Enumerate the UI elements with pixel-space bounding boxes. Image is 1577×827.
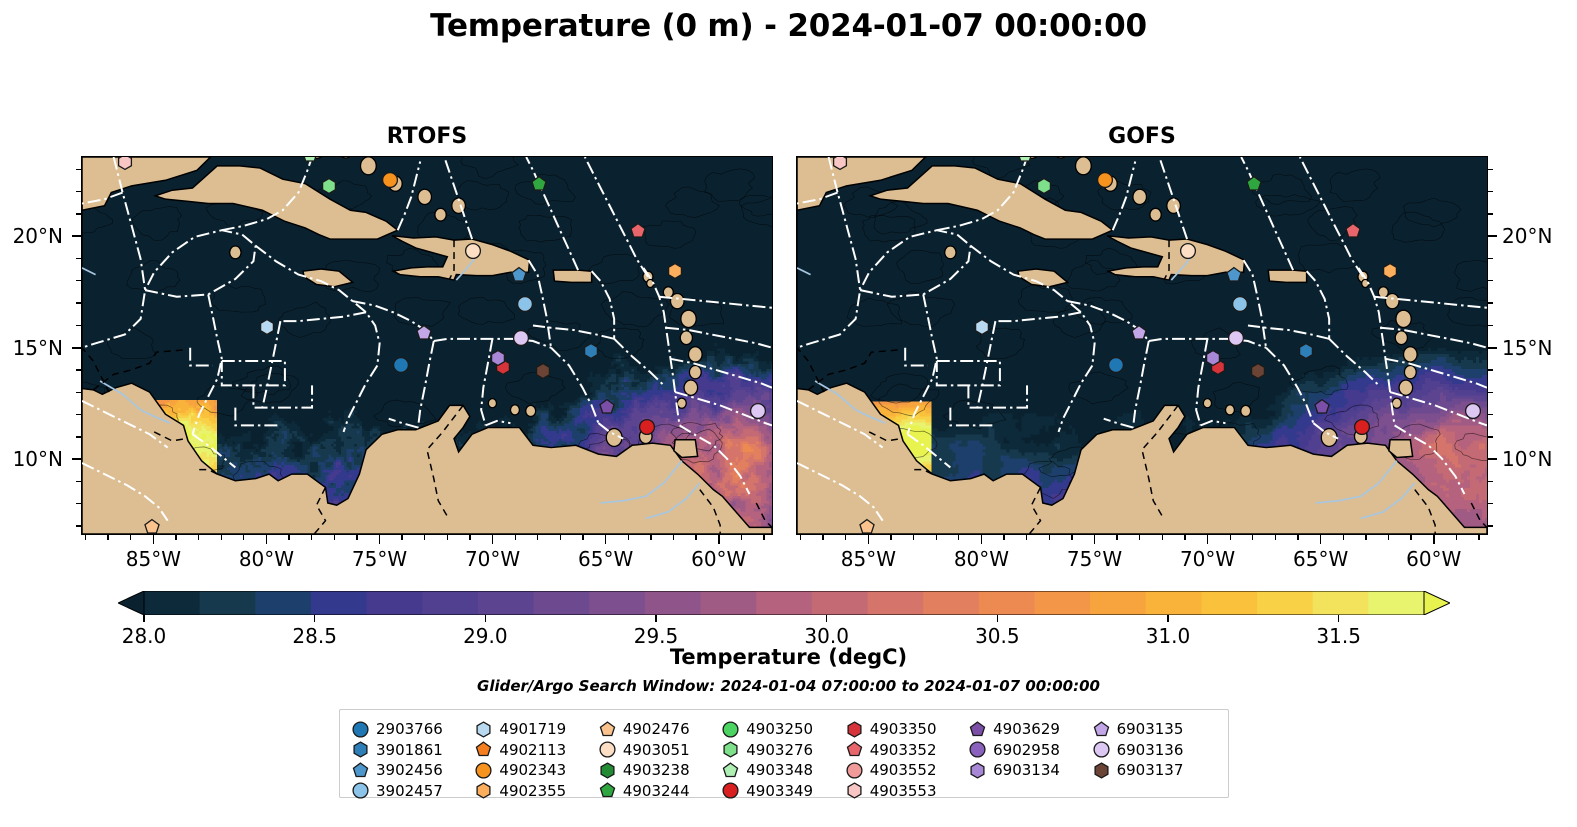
panel-title-gofs: GOFS bbox=[796, 124, 1488, 149]
legend-marker-icon bbox=[599, 741, 616, 758]
x-minor-tick bbox=[913, 535, 914, 540]
x-tick-gofs-4 bbox=[1320, 535, 1322, 544]
legend-marker-icon bbox=[1093, 721, 1110, 738]
legend-item-4902355[interactable]: 4902355 bbox=[475, 781, 598, 802]
y-minor-tick bbox=[1488, 414, 1493, 415]
legend-marker-icon bbox=[599, 721, 616, 738]
x-minor-tick bbox=[1162, 535, 1163, 540]
y-tick-gofs-1 bbox=[1488, 347, 1497, 349]
x-minor-tick bbox=[424, 535, 425, 540]
legend-item-6902958[interactable]: 6902958 bbox=[969, 740, 1092, 761]
x-tick-gofs-3 bbox=[1207, 535, 1209, 544]
platform-marker-3901861[interactable] bbox=[582, 343, 599, 364]
x-tick-label-rtofs-0: 85°W bbox=[126, 547, 181, 571]
y-minor-tick bbox=[76, 325, 81, 326]
map-panel-gofs: GOFS bbox=[796, 156, 1488, 535]
y-tick-label-rtofs-2: 20°N bbox=[0, 224, 63, 248]
platform-marker-3902457[interactable] bbox=[1232, 296, 1249, 317]
platform-marker-3901861[interactable] bbox=[1297, 343, 1314, 364]
platform-marker-4901719[interactable] bbox=[974, 318, 991, 339]
legend-item-4902343[interactable]: 4902343 bbox=[475, 760, 598, 781]
legend-item-2903766[interactable]: 2903766 bbox=[352, 719, 475, 740]
y-minor-tick bbox=[1488, 525, 1493, 526]
x-tick-label-rtofs-5: 60°W bbox=[691, 547, 746, 571]
y-tick-gofs-2 bbox=[1488, 235, 1497, 237]
legend-item-4903051[interactable]: 4903051 bbox=[599, 740, 722, 761]
legend-item-4903238[interactable]: 4903238 bbox=[599, 760, 722, 781]
legend-marker-icon bbox=[722, 782, 739, 799]
colorbar-tick-3 bbox=[655, 615, 657, 622]
x-minor-tick bbox=[1071, 535, 1072, 540]
legend-marker-icon bbox=[722, 721, 739, 738]
platform-legend: 2903766 3901861 3902456 3902457 4901719 … bbox=[339, 709, 1229, 798]
colorbar-tick-6 bbox=[1167, 615, 1169, 622]
x-minor-tick bbox=[560, 535, 561, 540]
legend-marker-icon bbox=[352, 741, 369, 758]
platform-marker-6903136[interactable] bbox=[1227, 329, 1244, 350]
x-minor-tick bbox=[1230, 535, 1231, 540]
platform-marker-6903134[interactable] bbox=[490, 349, 507, 370]
legend-marker-icon bbox=[969, 762, 986, 779]
legend-item-3902456[interactable]: 3902456 bbox=[352, 760, 475, 781]
y-minor-tick bbox=[76, 191, 81, 192]
x-minor-tick bbox=[221, 535, 222, 540]
x-minor-tick bbox=[469, 535, 470, 540]
x-tick-gofs-1 bbox=[981, 535, 983, 544]
x-tick-rtofs-0 bbox=[153, 535, 155, 544]
y-tick-label-gofs-0: 10°N bbox=[1502, 447, 1552, 471]
legend-label: 4903350 bbox=[870, 720, 937, 738]
colorbar bbox=[118, 591, 1450, 615]
y-minor-tick bbox=[76, 414, 81, 415]
legend-label: 6903136 bbox=[1117, 741, 1184, 759]
legend-item-4903629[interactable]: 4903629 bbox=[969, 719, 1092, 740]
x-minor-tick bbox=[130, 535, 131, 540]
legend-label: 4903348 bbox=[746, 761, 813, 779]
y-minor-tick bbox=[1488, 213, 1493, 214]
legend-label: 4902476 bbox=[623, 720, 690, 738]
x-tick-label-gofs-1: 80°W bbox=[954, 547, 1009, 571]
legend-label: 4902355 bbox=[499, 782, 566, 800]
panel-title-rtofs: RTOFS bbox=[81, 124, 773, 149]
x-minor-tick bbox=[628, 535, 629, 540]
platform-marker-4902343[interactable] bbox=[1096, 171, 1113, 192]
map-panel-rtofs: RTOFS bbox=[81, 156, 773, 535]
x-tick-rtofs-5 bbox=[718, 535, 720, 544]
legend-label: 4903352 bbox=[870, 741, 937, 759]
legend-item-6903135[interactable]: 6903135 bbox=[1093, 719, 1216, 740]
x-minor-tick bbox=[85, 535, 86, 540]
platform-marker-4903553[interactable] bbox=[117, 157, 134, 174]
x-minor-tick bbox=[695, 535, 696, 540]
platform-marker-4902343[interactable] bbox=[381, 171, 398, 192]
legend-marker-icon bbox=[722, 741, 739, 758]
platform-marker-2903766[interactable] bbox=[1107, 356, 1124, 377]
x-minor-tick bbox=[763, 535, 764, 540]
legend-marker-icon bbox=[846, 721, 863, 738]
y-minor-tick bbox=[76, 392, 81, 393]
y-tick-label-rtofs-1: 15°N bbox=[0, 336, 63, 360]
platform-marker-6903136b[interactable] bbox=[750, 403, 767, 424]
x-minor-tick bbox=[1456, 535, 1457, 540]
legend-marker-icon bbox=[475, 721, 492, 738]
legend-label: 4903629 bbox=[993, 720, 1060, 738]
platform-marker-4902476[interactable] bbox=[144, 519, 161, 534]
legend-label: 4903553 bbox=[870, 782, 937, 800]
legend-item-4903352[interactable]: 4903352 bbox=[846, 740, 969, 761]
legend-item-4903552[interactable]: 4903552 bbox=[846, 760, 969, 781]
y-minor-tick bbox=[76, 503, 81, 504]
colorbar-tick-4 bbox=[826, 615, 828, 622]
legend-marker-icon bbox=[475, 741, 492, 758]
platform-marker-4903629[interactable] bbox=[1313, 398, 1330, 419]
x-minor-tick bbox=[890, 535, 891, 540]
x-minor-tick bbox=[1410, 535, 1411, 540]
legend-item-4902113[interactable]: 4902113 bbox=[475, 740, 598, 761]
x-minor-tick bbox=[822, 535, 823, 540]
y-minor-tick bbox=[1488, 302, 1493, 303]
legend-label: 6903134 bbox=[993, 761, 1060, 779]
y-minor-tick bbox=[1488, 258, 1493, 259]
legend-marker-icon bbox=[352, 782, 369, 799]
y-minor-tick bbox=[1488, 369, 1493, 370]
x-minor-tick bbox=[334, 535, 335, 540]
legend-item-6903137[interactable]: 6903137 bbox=[1093, 760, 1216, 781]
x-tick-rtofs-2 bbox=[379, 535, 381, 544]
legend-marker-icon bbox=[722, 762, 739, 779]
legend-item-6903134[interactable]: 6903134 bbox=[969, 760, 1092, 781]
x-minor-tick bbox=[1116, 535, 1117, 540]
map-canvas-rtofs[interactable] bbox=[82, 157, 772, 534]
legend-label: 4902343 bbox=[499, 761, 566, 779]
legend-marker-icon bbox=[846, 782, 863, 799]
y-minor-tick bbox=[76, 436, 81, 437]
x-tick-label-rtofs-3: 70°W bbox=[465, 547, 520, 571]
y-minor-tick bbox=[76, 169, 81, 170]
platform-marker-6903137[interactable] bbox=[1250, 363, 1267, 384]
x-tick-label-gofs-0: 85°W bbox=[841, 547, 896, 571]
legend-label: 3902456 bbox=[376, 761, 443, 779]
platform-marker-4903629[interactable] bbox=[598, 398, 615, 419]
platform-marker-6903135[interactable] bbox=[415, 325, 432, 346]
colorbar-tick-7 bbox=[1338, 615, 1340, 622]
legend-marker-icon bbox=[846, 741, 863, 758]
x-minor-tick bbox=[1026, 535, 1027, 540]
legend-label: 2903766 bbox=[376, 720, 443, 738]
legend-label: 4903244 bbox=[623, 782, 690, 800]
legend-marker-icon bbox=[969, 721, 986, 738]
legend-item-4903350[interactable]: 4903350 bbox=[846, 719, 969, 740]
x-minor-tick bbox=[958, 535, 959, 540]
x-tick-gofs-2 bbox=[1094, 535, 1096, 544]
x-minor-tick bbox=[243, 535, 244, 540]
platform-marker-4903244[interactable] bbox=[1245, 176, 1262, 197]
legend-marker-icon bbox=[475, 762, 492, 779]
x-minor-tick bbox=[650, 535, 651, 540]
platform-marker-4903349[interactable] bbox=[639, 419, 656, 440]
legend-item-4903349[interactable]: 4903349 bbox=[722, 781, 845, 802]
y-minor-tick bbox=[76, 481, 81, 482]
x-minor-tick bbox=[1139, 535, 1140, 540]
legend-marker-icon bbox=[969, 741, 986, 758]
x-minor-tick bbox=[1388, 535, 1389, 540]
legend-label: 4901719 bbox=[499, 720, 566, 738]
x-tick-rtofs-4 bbox=[605, 535, 607, 544]
map-frame-gofs[interactable] bbox=[796, 156, 1488, 535]
legend-item-4903250[interactable]: 4903250 bbox=[722, 719, 845, 740]
x-minor-tick bbox=[311, 535, 312, 540]
legend-label: 4903051 bbox=[623, 741, 690, 759]
x-minor-tick bbox=[741, 535, 742, 540]
y-minor-tick bbox=[76, 213, 81, 214]
x-minor-tick bbox=[447, 535, 448, 540]
colorbar-tick-5 bbox=[997, 615, 999, 622]
y-minor-tick bbox=[76, 258, 81, 259]
x-tick-gofs-5 bbox=[1433, 535, 1435, 544]
y-minor-tick bbox=[1488, 169, 1493, 170]
y-tick-label-gofs-1: 15°N bbox=[1502, 336, 1552, 360]
legend-item-4902476[interactable]: 4902476 bbox=[599, 719, 722, 740]
legend-marker-icon bbox=[352, 762, 369, 779]
platform-marker-4903553[interactable] bbox=[832, 157, 849, 174]
x-minor-tick bbox=[800, 535, 801, 540]
legend-marker-icon bbox=[1093, 741, 1110, 758]
platform-marker-4903244[interactable] bbox=[530, 176, 547, 197]
legend-label: 4902113 bbox=[499, 741, 566, 759]
y-minor-tick bbox=[1488, 392, 1493, 393]
x-tick-label-rtofs-4: 65°W bbox=[578, 547, 633, 571]
platform-marker-4901719[interactable] bbox=[259, 318, 276, 339]
legend-marker-icon bbox=[352, 721, 369, 738]
legend-label: 4903552 bbox=[870, 761, 937, 779]
platform-marker-4903348[interactable] bbox=[302, 157, 319, 168]
legend-marker-icon bbox=[599, 762, 616, 779]
platform-marker-6903134[interactable] bbox=[1205, 349, 1222, 370]
platform-marker-6903136b[interactable] bbox=[1465, 403, 1482, 424]
legend-item-4901719[interactable]: 4901719 bbox=[475, 719, 598, 740]
x-minor-tick bbox=[537, 535, 538, 540]
x-minor-tick bbox=[1275, 535, 1276, 540]
platform-marker-4902476[interactable] bbox=[859, 519, 876, 534]
legend-label: 6902958 bbox=[993, 741, 1060, 759]
x-minor-tick bbox=[582, 535, 583, 540]
legend-item-4903244[interactable]: 4903244 bbox=[599, 781, 722, 802]
legend-marker-icon bbox=[1093, 762, 1110, 779]
x-minor-tick bbox=[1049, 535, 1050, 540]
x-minor-tick bbox=[1003, 535, 1004, 540]
legend-item-3901861[interactable]: 3901861 bbox=[352, 740, 475, 761]
x-tick-label-gofs-4: 65°W bbox=[1293, 547, 1348, 571]
x-minor-tick bbox=[198, 535, 199, 540]
x-minor-tick bbox=[175, 535, 176, 540]
page-title: Temperature (0 m) - 2024-01-07 00:00:00 bbox=[0, 8, 1577, 44]
y-minor-tick bbox=[76, 280, 81, 281]
x-tick-label-gofs-3: 70°W bbox=[1180, 547, 1235, 571]
x-tick-gofs-0 bbox=[868, 535, 870, 544]
platform-marker-4903051[interactable] bbox=[465, 242, 482, 263]
platform-marker-4903348[interactable] bbox=[1017, 157, 1034, 168]
x-minor-tick bbox=[401, 535, 402, 540]
legend-item-4903553[interactable]: 4903553 bbox=[846, 781, 969, 802]
platform-marker-4903352[interactable] bbox=[1345, 222, 1362, 243]
x-minor-tick bbox=[356, 535, 357, 540]
platform-marker-4903051[interactable] bbox=[1180, 242, 1197, 263]
y-minor-tick bbox=[1488, 503, 1493, 504]
search-window-label: Glider/Argo Search Window: 2024-01-04 07… bbox=[0, 677, 1577, 695]
x-minor-tick bbox=[288, 535, 289, 540]
y-minor-tick bbox=[1488, 325, 1493, 326]
x-tick-rtofs-3 bbox=[492, 535, 494, 544]
platform-marker-4903276[interactable] bbox=[1035, 178, 1052, 199]
platform-marker-4903349[interactable] bbox=[1354, 419, 1371, 440]
x-minor-tick bbox=[107, 535, 108, 540]
x-tick-rtofs-1 bbox=[266, 535, 268, 544]
legend-item-3902457[interactable]: 3902457 bbox=[352, 781, 475, 802]
x-tick-label-gofs-2: 75°W bbox=[1067, 547, 1122, 571]
x-minor-tick bbox=[1478, 535, 1479, 540]
legend-item-4903348[interactable]: 4903348 bbox=[722, 760, 845, 781]
x-tick-label-rtofs-1: 80°W bbox=[239, 547, 294, 571]
x-minor-tick bbox=[1297, 535, 1298, 540]
y-minor-tick bbox=[76, 369, 81, 370]
colorbar-tick-1 bbox=[314, 615, 316, 622]
x-minor-tick bbox=[1184, 535, 1185, 540]
figure-canvas: Temperature (0 m) - 2024-01-07 00:00:00 … bbox=[0, 0, 1577, 827]
x-minor-tick bbox=[1343, 535, 1344, 540]
y-tick-rtofs-1 bbox=[72, 347, 81, 349]
legend-marker-icon bbox=[599, 782, 616, 799]
legend-marker-icon bbox=[475, 782, 492, 799]
y-minor-tick bbox=[76, 302, 81, 303]
legend-label: 3902457 bbox=[376, 782, 443, 800]
y-minor-tick bbox=[1488, 436, 1493, 437]
y-tick-label-gofs-2: 20°N bbox=[1502, 224, 1552, 248]
y-minor-tick bbox=[1488, 280, 1493, 281]
x-minor-tick bbox=[673, 535, 674, 540]
legend-label: 3901861 bbox=[376, 741, 443, 759]
platform-marker-3902456[interactable] bbox=[1225, 267, 1242, 288]
platform-marker-3902456[interactable] bbox=[510, 267, 527, 288]
legend-grid: 2903766 3901861 3902456 3902457 4901719 … bbox=[352, 719, 1216, 801]
map-frame-rtofs[interactable] bbox=[81, 156, 773, 535]
legend-label: 4903250 bbox=[746, 720, 813, 738]
y-minor-tick bbox=[76, 525, 81, 526]
platform-marker-2903766[interactable] bbox=[392, 356, 409, 377]
platform-marker-3902457[interactable] bbox=[517, 296, 534, 317]
map-canvas-gofs[interactable] bbox=[797, 157, 1487, 534]
y-minor-tick bbox=[1488, 481, 1493, 482]
x-tick-label-rtofs-2: 75°W bbox=[352, 547, 407, 571]
y-tick-rtofs-2 bbox=[72, 235, 81, 237]
legend-item-4903276[interactable]: 4903276 bbox=[722, 740, 845, 761]
platform-marker-6903136[interactable] bbox=[512, 329, 529, 350]
colorbar-title: Temperature (degC) bbox=[0, 645, 1577, 669]
x-minor-tick bbox=[515, 535, 516, 540]
platform-marker-6903135[interactable] bbox=[1130, 325, 1147, 346]
x-minor-tick bbox=[1365, 535, 1366, 540]
platform-marker-4903352[interactable] bbox=[630, 222, 647, 243]
colorbar-tick-2 bbox=[485, 615, 487, 622]
platform-marker-4902355[interactable] bbox=[666, 262, 683, 283]
x-minor-tick bbox=[1252, 535, 1253, 540]
legend-item-6903136[interactable]: 6903136 bbox=[1093, 740, 1216, 761]
legend-label: 6903137 bbox=[1117, 761, 1184, 779]
legend-label: 4903238 bbox=[623, 761, 690, 779]
x-minor-tick bbox=[936, 535, 937, 540]
x-tick-label-gofs-5: 60°W bbox=[1406, 547, 1461, 571]
legend-label: 6903135 bbox=[1117, 720, 1184, 738]
platform-marker-6903137[interactable] bbox=[535, 363, 552, 384]
y-tick-rtofs-0 bbox=[72, 458, 81, 460]
legend-label: 4903349 bbox=[746, 782, 813, 800]
y-tick-gofs-0 bbox=[1488, 458, 1497, 460]
legend-marker-icon bbox=[846, 762, 863, 779]
x-minor-tick bbox=[845, 535, 846, 540]
y-minor-tick bbox=[1488, 191, 1493, 192]
platform-marker-4902355[interactable] bbox=[1381, 262, 1398, 283]
colorbar-tick-0 bbox=[143, 615, 145, 622]
platform-marker-4903276[interactable] bbox=[320, 178, 337, 199]
legend-label: 4903276 bbox=[746, 741, 813, 759]
y-tick-label-rtofs-0: 10°N bbox=[0, 447, 63, 471]
